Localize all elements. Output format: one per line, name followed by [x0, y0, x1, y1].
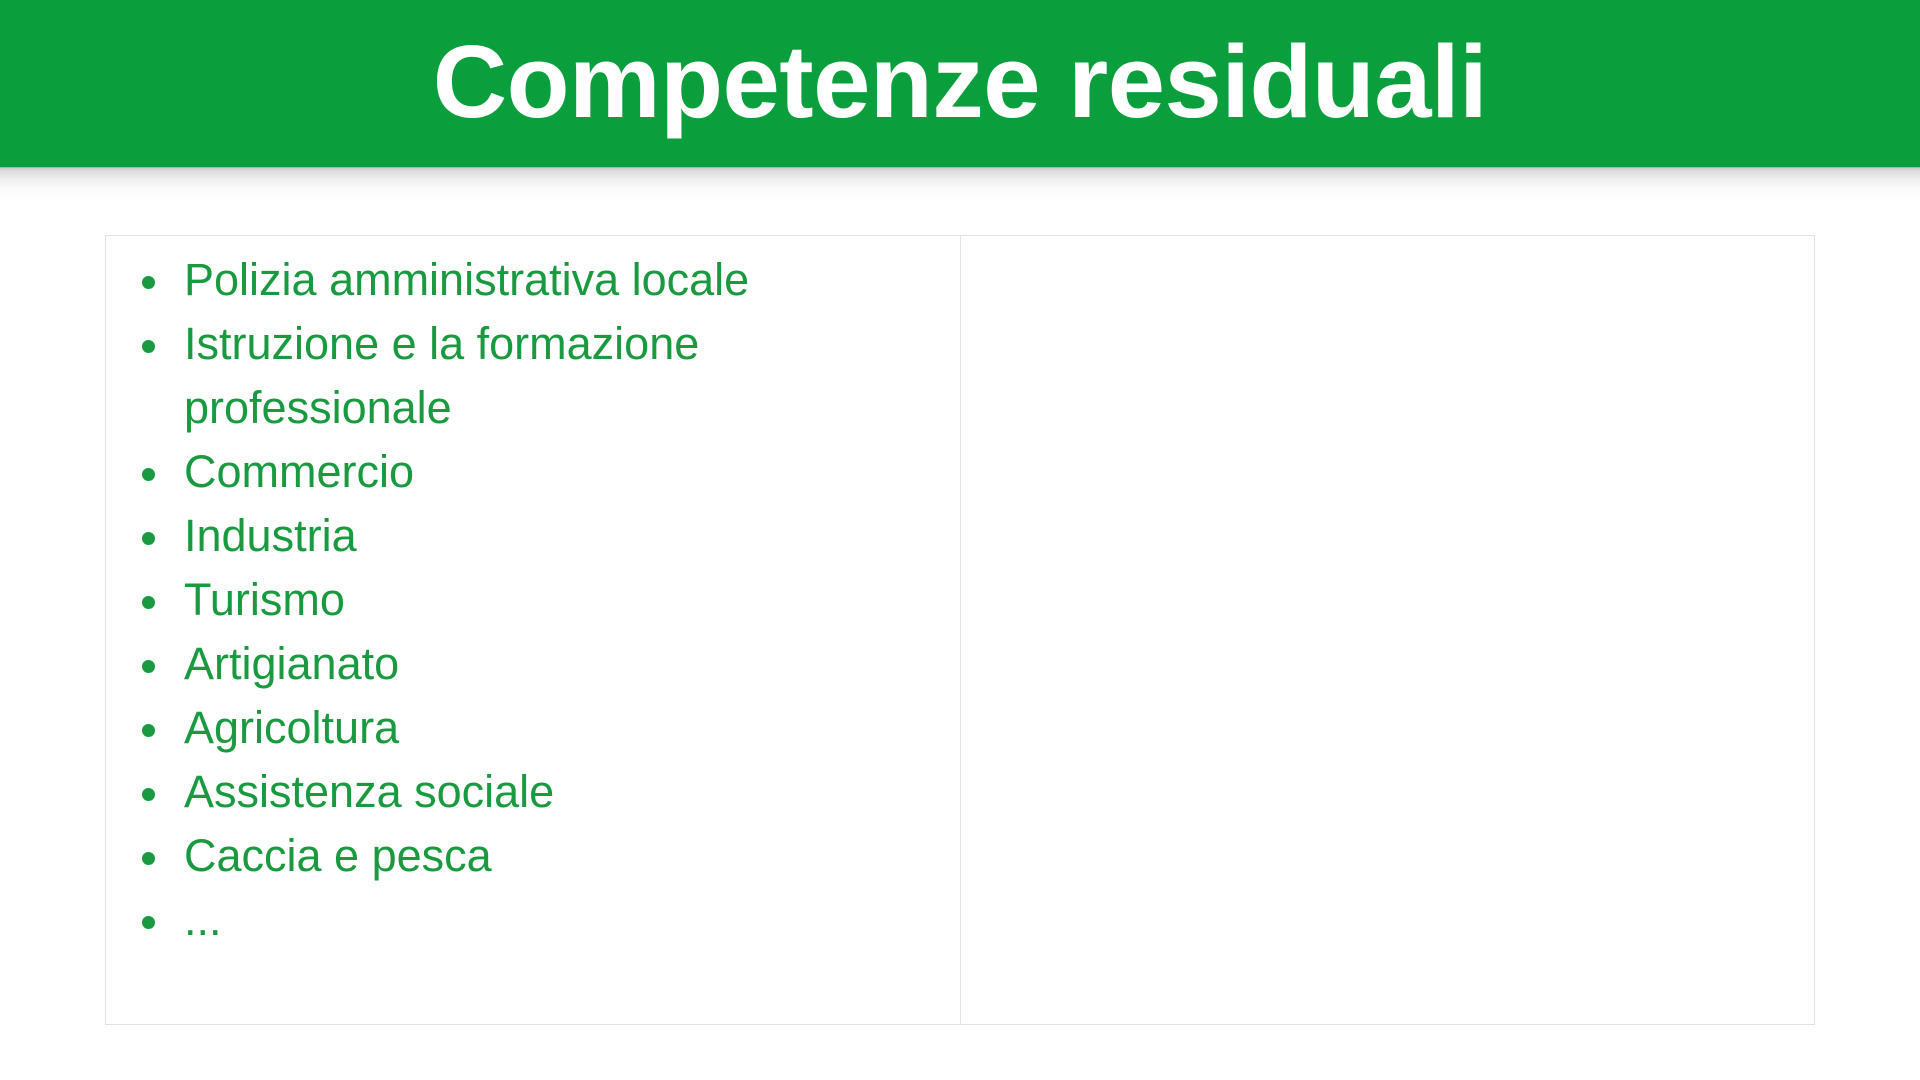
list-item: Artigianato: [126, 632, 884, 696]
right-column: [961, 236, 1814, 1024]
list-item-label: Turismo: [184, 568, 884, 632]
title-band-shadow: [0, 167, 1920, 201]
content-frame: Polizia amministrativa locale Istruzione…: [105, 235, 1815, 1025]
list-item: ...: [126, 888, 884, 952]
page-title: Competenze residuali: [433, 30, 1488, 133]
title-band: Competenze residuali: [0, 0, 1920, 167]
list-item: Industria: [126, 504, 884, 568]
bullet-dot-icon: [142, 532, 155, 545]
bullet-dot-icon: [142, 916, 155, 929]
list-item-label: Commercio: [184, 440, 884, 504]
bullet-dot-icon: [142, 788, 155, 801]
list-item-label: Polizia amministrativa locale: [184, 248, 884, 312]
bullet-dot-icon: [142, 340, 155, 353]
bullet-dot-icon: [142, 660, 155, 673]
list-item-label: Artigianato: [184, 632, 884, 696]
list-item: Assistenza sociale: [126, 760, 884, 824]
left-column: Polizia amministrativa locale Istruzione…: [106, 236, 961, 1024]
list-item-label: ...: [184, 888, 884, 952]
list-item-label: Istruzione e la formazione professionale: [184, 312, 884, 440]
slide: Competenze residuali Polizia amministrat…: [0, 0, 1920, 1080]
list-item-label: Caccia e pesca: [184, 824, 884, 888]
bullet-dot-icon: [142, 596, 155, 609]
competences-bullet-list: Polizia amministrativa locale Istruzione…: [106, 248, 944, 952]
list-item: Istruzione e la formazione professionale: [126, 312, 884, 440]
list-item: Caccia e pesca: [126, 824, 884, 888]
list-item-label: Assistenza sociale: [184, 760, 884, 824]
list-item-label: Agricoltura: [184, 696, 884, 760]
bullet-dot-icon: [142, 724, 155, 737]
bullet-dot-icon: [142, 852, 155, 865]
list-item: Agricoltura: [126, 696, 884, 760]
list-item: Commercio: [126, 440, 884, 504]
list-item: Turismo: [126, 568, 884, 632]
list-item-label: Industria: [184, 504, 884, 568]
bullet-dot-icon: [142, 468, 155, 481]
bullet-dot-icon: [142, 276, 155, 289]
list-item: Polizia amministrativa locale: [126, 248, 884, 312]
